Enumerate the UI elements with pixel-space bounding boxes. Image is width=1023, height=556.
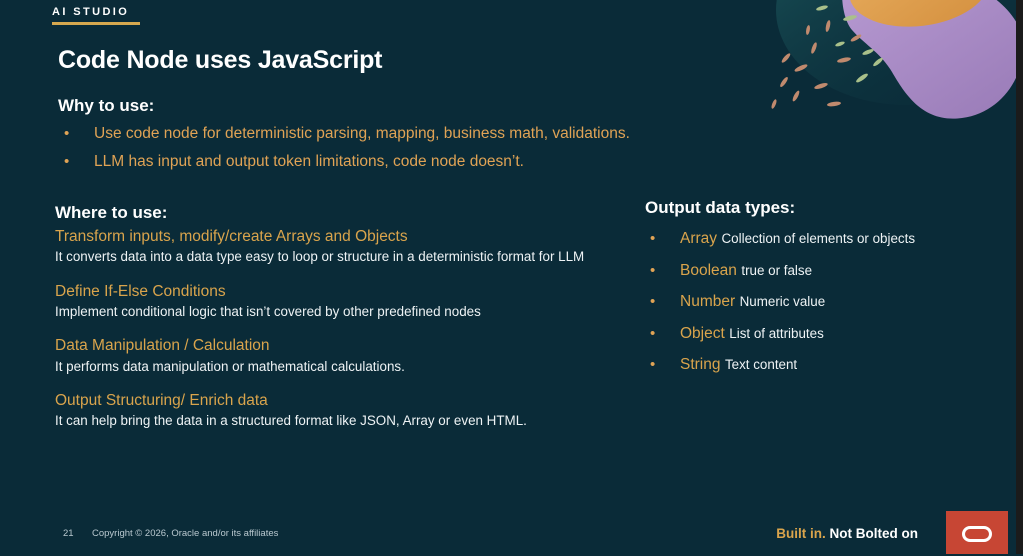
where-block-title: Define If-Else Conditions — [55, 282, 615, 301]
bullet-icon: • — [650, 294, 655, 311]
bullet-icon: • — [64, 124, 69, 144]
where-block: Output Structuring/ Enrich data It can h… — [55, 391, 615, 431]
slide-canvas: AI STUDIO Code Node uses JavaScript Why … — [0, 0, 1023, 556]
list-item-label: LLM has input and output token limitatio… — [94, 153, 524, 170]
type-description: Collection of elements or objects — [722, 231, 916, 246]
list-item: • Use code node for deterministic parsin… — [58, 124, 630, 145]
bullet-icon: • — [64, 152, 69, 172]
where-block-body: It performs data manipulation or mathema… — [55, 357, 615, 376]
where-block: Data Manipulation / Calculation It perfo… — [55, 336, 615, 376]
why-to-use-list: • Use code node for deterministic parsin… — [58, 124, 630, 173]
list-item: • Boolean true or false — [645, 262, 985, 280]
list-item: • LLM has input and output token limitat… — [58, 152, 630, 173]
page-title: Code Node uses JavaScript — [58, 46, 382, 75]
bullet-icon: • — [650, 357, 655, 374]
brand-eyebrow-underline — [52, 22, 140, 25]
bullet-icon: • — [650, 263, 655, 280]
type-name: Boolean — [680, 262, 737, 279]
where-block-body: It can help bring the data in a structur… — [55, 411, 615, 430]
oracle-oval-icon — [962, 526, 992, 542]
type-name: Array — [680, 230, 717, 247]
type-name: Object — [680, 325, 725, 342]
where-block: Define If-Else Conditions Implement cond… — [55, 282, 615, 322]
list-item: • String Text content — [645, 356, 985, 374]
where-block-title: Output Structuring/ Enrich data — [55, 391, 615, 410]
type-name: Number — [680, 293, 735, 310]
slide-page-number: 21 — [63, 528, 74, 539]
where-to-use-section: Where to use: Transform inputs, modify/c… — [55, 203, 615, 431]
list-item-label: Use code node for deterministic parsing,… — [94, 125, 630, 142]
type-description: true or false — [741, 263, 812, 278]
bullet-icon: • — [650, 231, 655, 248]
where-to-use-heading: Where to use: — [55, 203, 615, 223]
where-block-body: It converts data into a data type easy t… — [55, 247, 615, 266]
bullet-icon: • — [650, 326, 655, 343]
oracle-logo — [946, 511, 1008, 556]
output-data-types-list: • Array Collection of elements or object… — [645, 230, 985, 374]
tagline: Built in. Not Bolted on — [776, 526, 918, 541]
output-data-types-heading: Output data types: — [645, 198, 985, 218]
why-to-use-heading: Why to use: — [58, 96, 630, 116]
list-item: • Array Collection of elements or object… — [645, 230, 985, 248]
frame-edge-right — [1016, 0, 1023, 556]
type-description: Numeric value — [740, 294, 826, 309]
output-data-types-section: Output data types: • Array Collection of… — [645, 198, 985, 388]
why-to-use-section: Why to use: • Use code node for determin… — [58, 96, 630, 180]
decorative-artwork — [756, 0, 1016, 150]
brand-eyebrow-label: AI STUDIO — [52, 6, 140, 18]
list-item: • Number Numeric value — [645, 293, 985, 311]
type-description: Text content — [725, 357, 797, 372]
where-block-body: Implement conditional logic that isn’t c… — [55, 302, 615, 321]
type-name: String — [680, 356, 721, 373]
tagline-accent: Built in. — [776, 526, 826, 541]
where-block-title: Data Manipulation / Calculation — [55, 336, 615, 355]
list-item: • Object List of attributes — [645, 325, 985, 343]
brand-eyebrow: AI STUDIO — [52, 6, 140, 25]
tagline-rest: Not Bolted on — [830, 526, 918, 541]
where-block: Transform inputs, modify/create Arrays a… — [55, 227, 615, 267]
copyright-notice: Copyright © 2026, Oracle and/or its affi… — [92, 528, 278, 539]
where-block-title: Transform inputs, modify/create Arrays a… — [55, 227, 615, 246]
type-description: List of attributes — [729, 326, 824, 341]
abstract-blob-graphic — [756, 0, 1016, 150]
